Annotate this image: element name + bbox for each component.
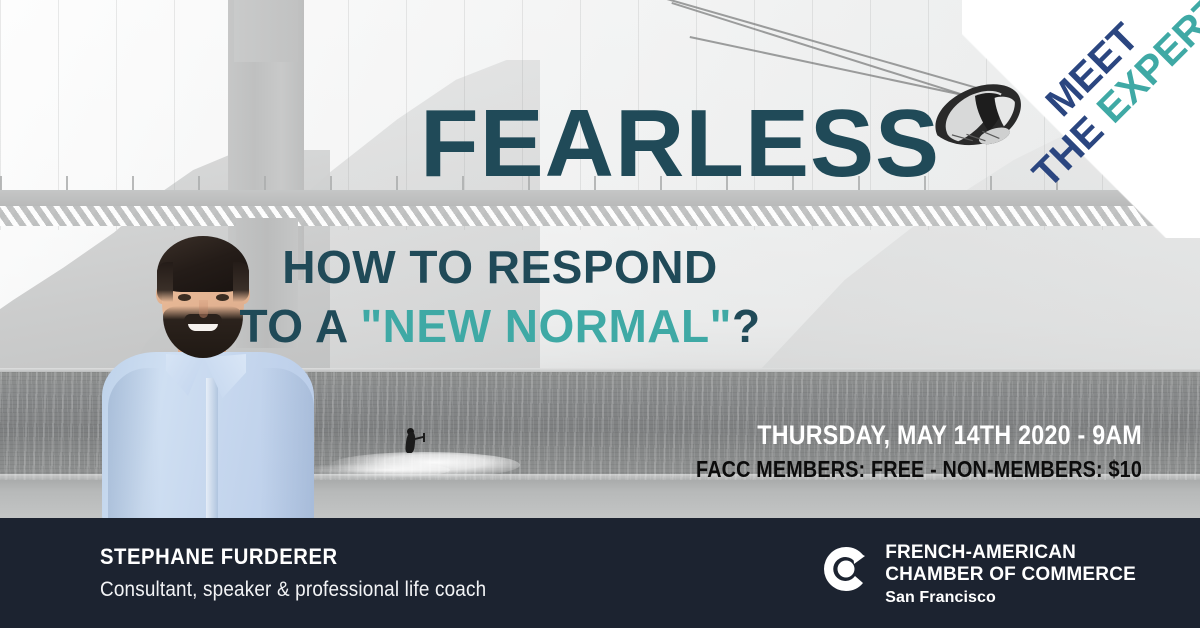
facc-logo-mark-icon	[821, 544, 871, 594]
speaker-role: Consultant, speaker & professional life …	[100, 578, 486, 602]
event-promo-poster: FEARLESS HOW TO RESPOND TO A "NEW NORMAL…	[0, 0, 1200, 628]
meet-the-expert-ribbon: MEET THE EXPERT!	[962, 0, 1200, 238]
ribbon-text: MEET THE EXPERT!	[997, 0, 1200, 195]
subtitle-line-2-prefix: TO A	[239, 300, 360, 352]
subtitle: HOW TO RESPOND TO A "NEW NORMAL"?	[0, 238, 1000, 356]
subtitle-line-2-suffix: ?	[732, 300, 761, 352]
subtitle-line-2: TO A "NEW NORMAL"?	[0, 297, 1000, 356]
facc-logo-wordmark: FRENCH-AMERICAN CHAMBER OF COMMERCE San …	[885, 542, 1136, 610]
page-title: FEARLESS	[420, 96, 940, 192]
bridge-tower-upper	[234, 0, 298, 62]
speaker-name: STEPHANE FURDERER	[100, 544, 495, 570]
event-details-block: THURSDAY, MAY 14TH 2020 - 9AM FACC MEMBE…	[0, 420, 1142, 483]
facc-line-2: CHAMBER OF COMMERCE	[885, 564, 1136, 586]
subtitle-line-2-accent: "NEW NORMAL"	[360, 300, 732, 352]
footer-bar: STEPHANE FURDERER Consultant, speaker & …	[0, 518, 1200, 628]
facc-city: San Francisco	[885, 586, 1136, 610]
speaker-info: STEPHANE FURDERER Consultant, speaker & …	[100, 544, 529, 602]
event-pricing: FACC MEMBERS: FREE - NON-MEMBERS: $10	[160, 456, 1142, 483]
event-date-time: THURSDAY, MAY 14TH 2020 - 9AM	[160, 420, 1142, 451]
facc-logo: FRENCH-AMERICAN CHAMBER OF COMMERCE San …	[821, 542, 1136, 610]
subtitle-line-1: HOW TO RESPOND	[0, 238, 1000, 297]
facc-line-1: FRENCH-AMERICAN	[885, 542, 1136, 564]
